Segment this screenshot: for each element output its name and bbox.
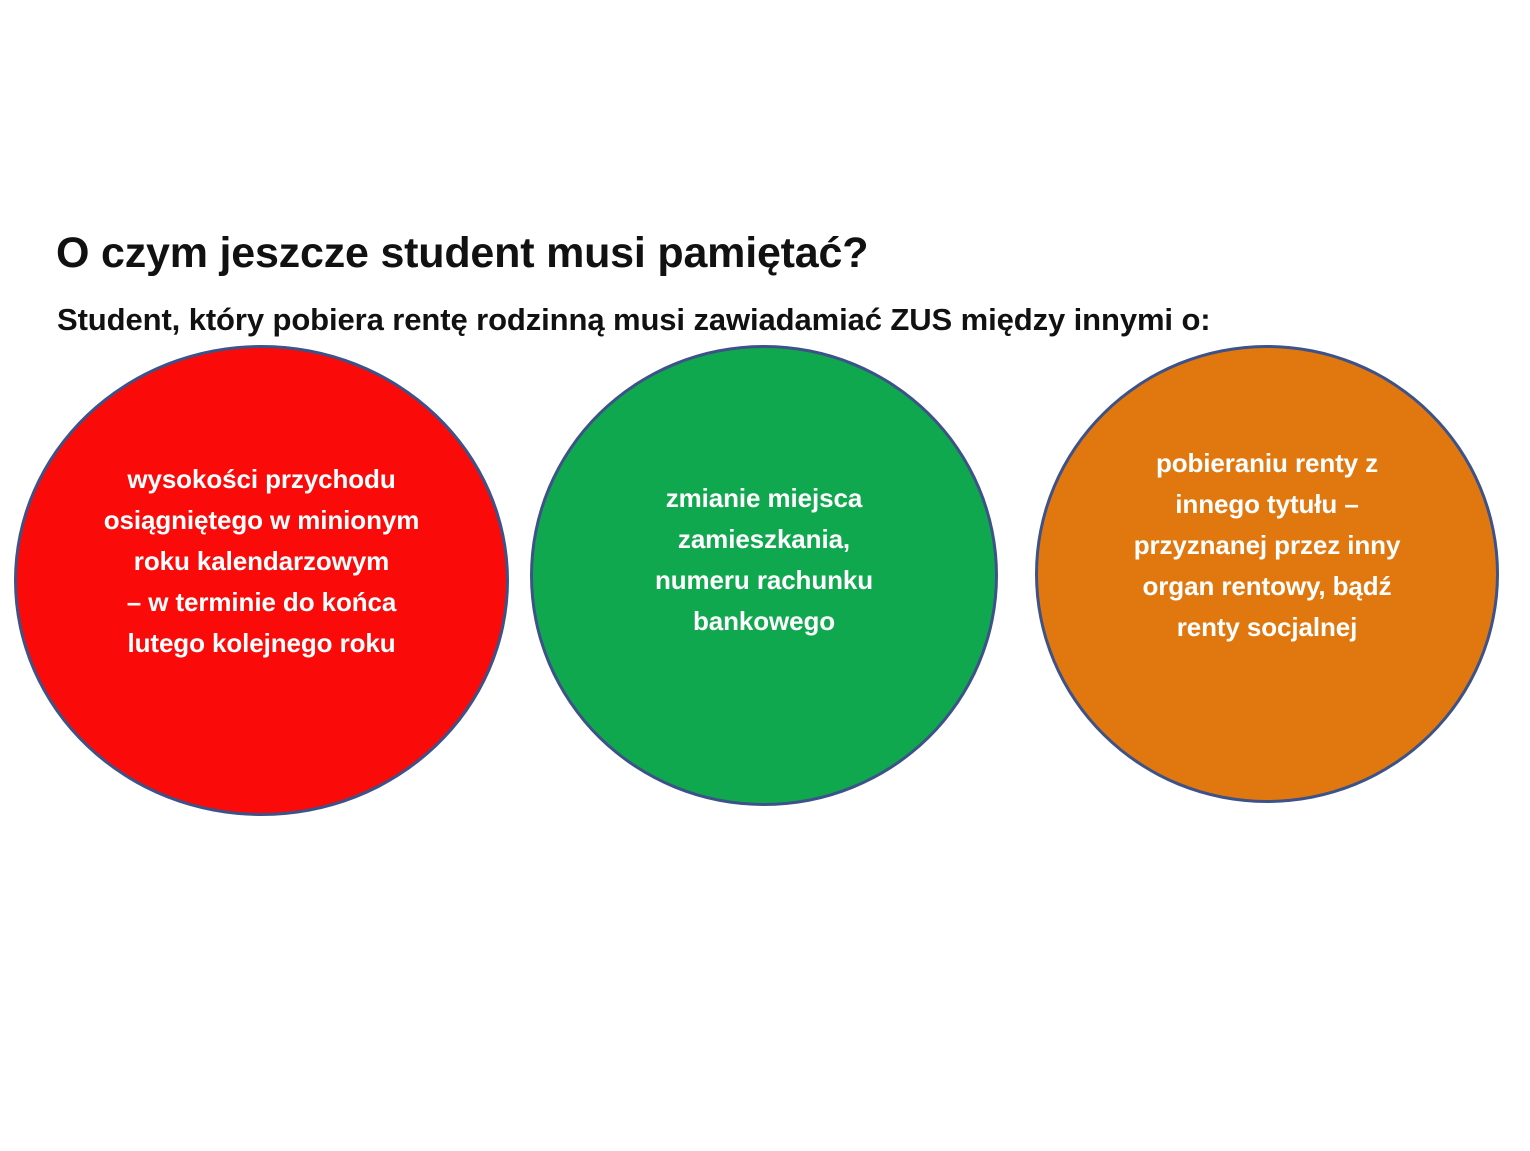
circle-item-address-change: zmianie miejsca zamieszkania, numeru rac…: [530, 345, 998, 806]
circle-item-income: wysokości przychodu osiągniętego w minio…: [14, 345, 509, 816]
circle-item-income-label: wysokości przychodu osiągniętego w minio…: [51, 459, 472, 664]
circle-item-other-pension: pobieraniu renty z innego tytułu – przyz…: [1035, 345, 1499, 803]
slide-canvas: O czym jeszcze student musi pamiętać? St…: [0, 0, 1530, 1151]
circle-item-other-pension-label: pobieraniu renty z innego tytułu – przyz…: [1070, 443, 1464, 648]
circle-diagram: wysokości przychodu osiągniętego w minio…: [0, 0, 1530, 1151]
circle-item-address-change-label: zmianie miejsca zamieszkania, numeru rac…: [565, 478, 962, 642]
